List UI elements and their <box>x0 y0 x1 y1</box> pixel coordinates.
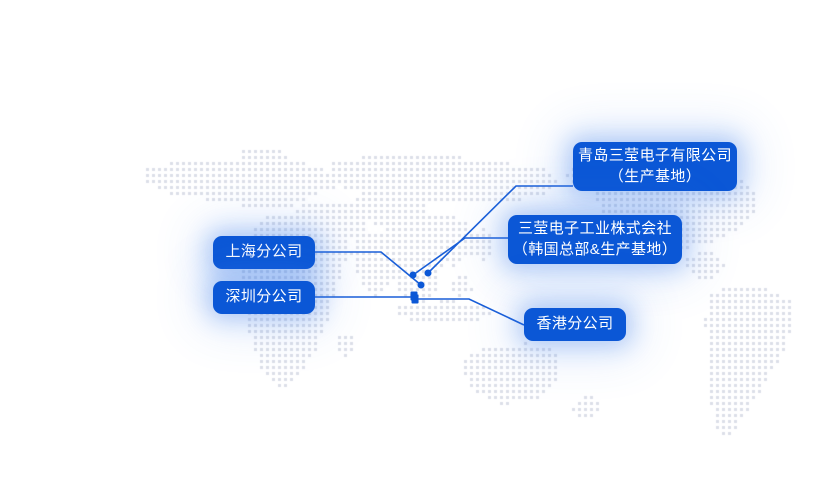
label-korea-line2: （韩国总部&生产基地） <box>513 240 677 261</box>
label-shenzhen-line1: 深圳分公司 <box>225 287 302 308</box>
label-hongkong-branch[interactable]: 香港分公司 <box>524 308 626 341</box>
label-korea-line1: 三莹电子工业株式会社 <box>518 219 672 240</box>
label-qingdao[interactable]: 青岛三莹电子有限公司 （生产基地） <box>573 142 737 191</box>
label-shanghai-line1: 上海分公司 <box>225 242 302 263</box>
connector-lines <box>0 0 824 480</box>
label-shenzhen-branch[interactable]: 深圳分公司 <box>213 281 315 314</box>
world-map-diagram: 青岛三莹电子有限公司 （生产基地） 三莹电子工业株式会社 （韩国总部&生产基地）… <box>0 0 824 480</box>
marker-hongkong[interactable] <box>412 295 419 304</box>
label-qingdao-line1: 青岛三莹电子有限公司 <box>578 146 732 167</box>
marker-shanghai[interactable] <box>418 282 425 289</box>
label-hongkong-line1: 香港分公司 <box>536 314 613 335</box>
label-korea-hq[interactable]: 三莹电子工业株式会社 （韩国总部&生产基地） <box>508 215 682 264</box>
label-shanghai-branch[interactable]: 上海分公司 <box>213 236 315 269</box>
label-qingdao-line2: （生产基地） <box>609 167 701 188</box>
shanghai-connector <box>315 252 421 285</box>
marker-korea[interactable] <box>410 272 417 279</box>
hongkong-connector <box>415 299 524 325</box>
marker-qingdao[interactable] <box>425 270 432 277</box>
